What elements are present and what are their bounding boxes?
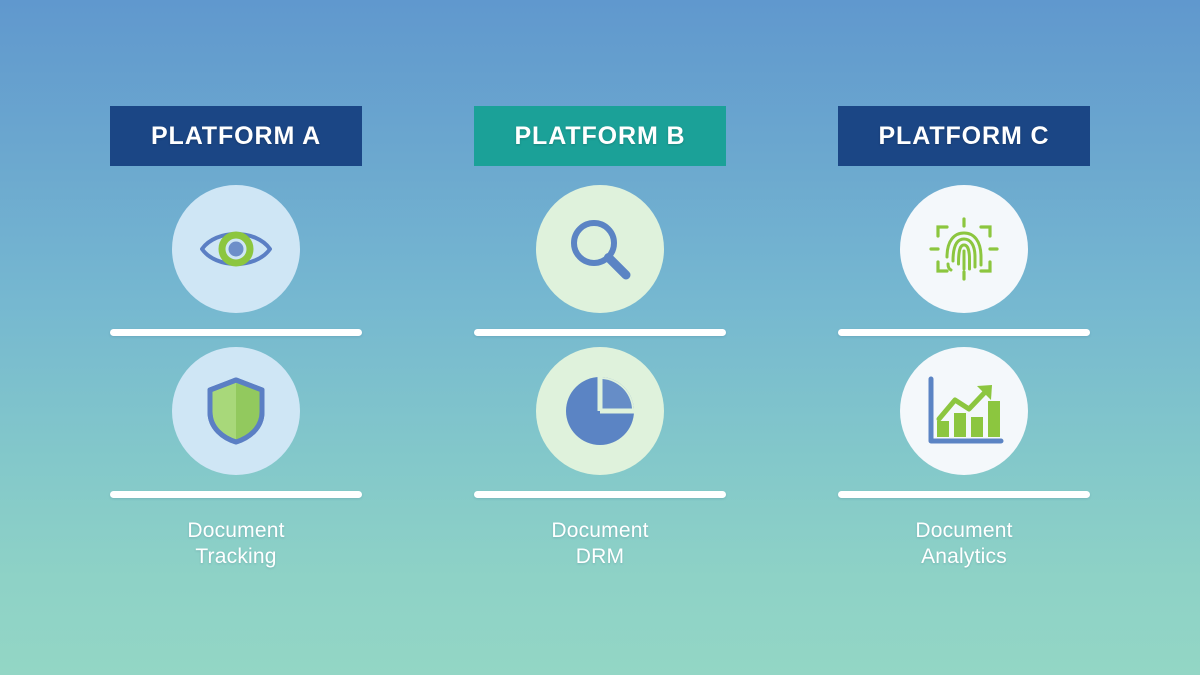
platform-c-caption: Document Analytics — [915, 518, 1012, 570]
platform-b-divider-top — [474, 329, 726, 336]
platform-comparison-board: PLATFORM A — [0, 0, 1200, 675]
platform-c-divider-bottom — [838, 491, 1090, 498]
magnifier-icon — [565, 214, 635, 284]
platform-c-icon-disc-2[interactable] — [900, 347, 1028, 475]
platform-a-header-chip[interactable]: PLATFORM A — [110, 106, 362, 166]
platform-a-icon-disc-2[interactable] — [172, 347, 300, 475]
platform-b-header-chip[interactable]: PLATFORM B — [474, 106, 726, 166]
platform-column-b: PLATFORM B — [474, 106, 726, 675]
platform-b-icon-slot-2 — [536, 346, 664, 476]
platform-b-title: PLATFORM B — [514, 122, 685, 151]
platform-b-icon-slot-1 — [536, 184, 664, 314]
platform-a-title: PLATFORM A — [151, 122, 321, 151]
platform-a-caption: Document Tracking — [187, 518, 284, 570]
platform-b-icon-disc-2[interactable] — [536, 347, 664, 475]
platform-b-divider-bottom — [474, 491, 726, 498]
platform-a-divider-bottom — [110, 491, 362, 498]
growth-chart-icon — [925, 375, 1003, 447]
platform-a-icon-slot-1 — [172, 184, 300, 314]
platform-c-divider-top — [838, 329, 1090, 336]
platform-c-header-chip[interactable]: PLATFORM C — [838, 106, 1090, 166]
platform-c-icon-disc-1[interactable] — [900, 185, 1028, 313]
platform-column-c: PLATFORM C — [838, 106, 1090, 675]
platform-c-title: PLATFORM C — [878, 122, 1049, 151]
eye-icon — [198, 223, 274, 275]
pie-chart-icon — [564, 375, 636, 447]
platform-a-icon-slot-2 — [172, 346, 300, 476]
platform-a-divider-top — [110, 329, 362, 336]
platform-a-icon-disc-1[interactable] — [172, 185, 300, 313]
platform-b-caption: Document DRM — [551, 518, 648, 570]
platform-b-icon-disc-1[interactable] — [536, 185, 664, 313]
platform-column-a: PLATFORM A — [110, 106, 362, 675]
shield-icon — [205, 376, 267, 446]
platform-c-icon-slot-2 — [900, 346, 1028, 476]
fingerprint-icon — [924, 209, 1004, 289]
platform-c-icon-slot-1 — [900, 184, 1028, 314]
